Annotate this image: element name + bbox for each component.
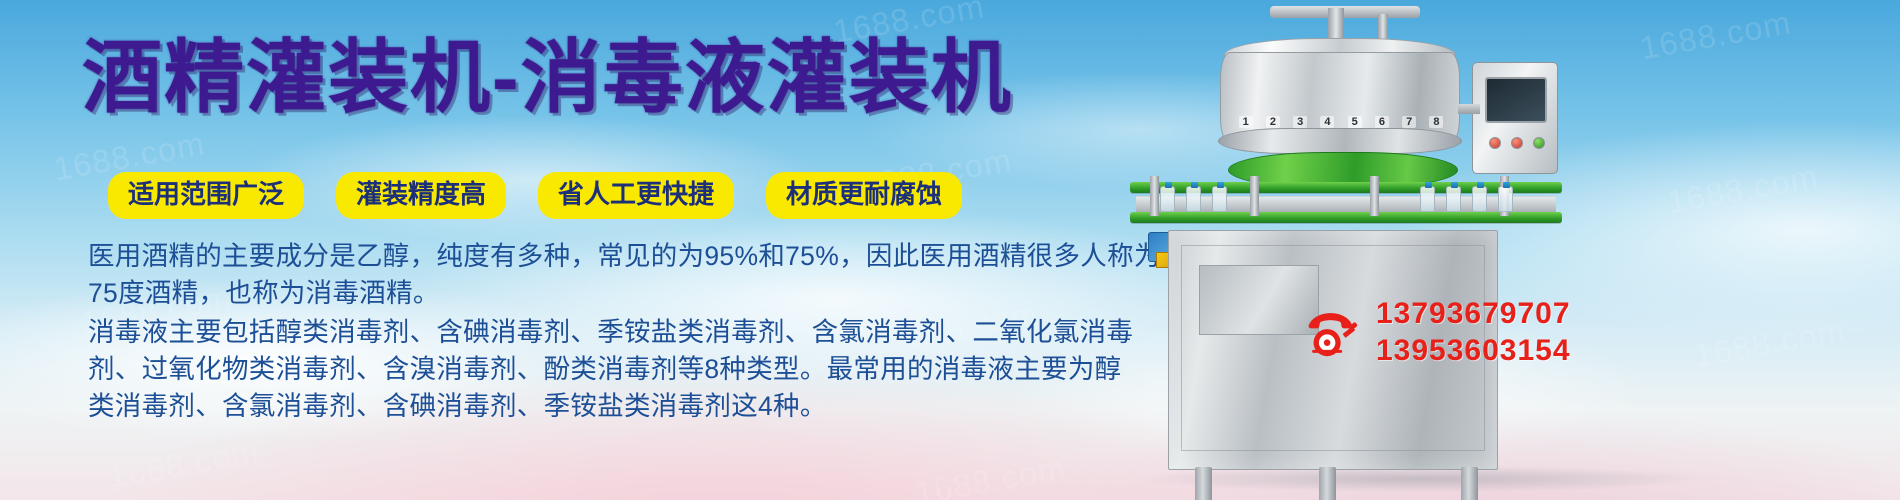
banner-title: 酒精灌装机-消毒液灌装机 <box>82 38 1013 118</box>
dial-number: 5 <box>1348 116 1362 128</box>
dial-number: 7 <box>1402 116 1416 128</box>
dial-number: 3 <box>1293 116 1307 128</box>
machine-leg <box>1319 467 1336 500</box>
feature-tag: 材质更耐腐蚀 <box>766 172 962 219</box>
feature-tag: 省人工更快捷 <box>538 172 734 219</box>
banner-content: 酒精灌装机-消毒液灌装机 适用范围广泛 灌装精度高 省人工更快捷 材质更耐腐蚀 … <box>0 0 1150 500</box>
bottle <box>1446 186 1461 212</box>
machine-control-panel <box>1472 62 1558 174</box>
paragraph-line: 类消毒剂、含氯消毒剂、含碘消毒剂、季铵盐类消毒剂这4种。 <box>88 388 1098 425</box>
bottle <box>1160 186 1175 212</box>
machine-leg <box>1461 467 1478 500</box>
dial-number: 1 <box>1239 116 1253 128</box>
bottle <box>1420 186 1435 212</box>
description-text: 医用酒精的主要成分是乙醇，纯度有多种，常见的为95%和75%，因此医用酒精很多人… <box>88 238 1098 427</box>
paragraph-line: 消毒液主要包括醇类消毒剂、含碘消毒剂、季铵盐类消毒剂、含氯消毒剂、二氧化氯消毒 <box>88 314 1098 351</box>
dial-number: 4 <box>1320 116 1334 128</box>
conveyor-guide-rail <box>1130 212 1562 223</box>
bottle <box>1186 186 1201 212</box>
phone-number-list: 13793679707 13953603154 <box>1376 296 1571 369</box>
contact-phone-block[interactable]: 13793679707 13953603154 <box>1300 296 1571 369</box>
feature-tag: 适用范围广泛 <box>108 172 304 219</box>
paragraph: 消毒液主要包括醇类消毒剂、含碘消毒剂、季铵盐类消毒剂、含氯消毒剂、二氧化氯消毒 … <box>88 314 1098 425</box>
machine-crossbar <box>1270 6 1420 18</box>
machine-leg <box>1195 467 1212 500</box>
promo-banner: 1688.com 1688.com 1688.com 1688.com 1688… <box>0 0 1900 500</box>
paragraph-line: 剂、过氧化物类消毒剂、含溴消毒剂、酚类消毒剂等8种类型。最常用的消毒液主要为醇 <box>88 351 1098 388</box>
dial-number: 6 <box>1375 116 1389 128</box>
conveyor-post <box>1250 176 1259 216</box>
conveyor-post <box>1150 176 1159 216</box>
machine-control-arm <box>1458 104 1480 114</box>
phone-number[interactable]: 13793679707 <box>1376 296 1571 331</box>
dial-number: 2 <box>1266 116 1280 128</box>
bottle <box>1212 186 1227 212</box>
conveyor-post <box>1370 176 1379 216</box>
feature-tag: 灌装精度高 <box>336 172 506 219</box>
control-panel-button <box>1533 137 1545 149</box>
control-panel-button <box>1489 137 1501 149</box>
bottle <box>1498 186 1513 212</box>
machine-turret-ring <box>1218 128 1462 154</box>
telephone-icon <box>1300 301 1362 363</box>
dial-number: 8 <box>1429 116 1443 128</box>
feature-tag-list: 适用范围广泛 灌装精度高 省人工更快捷 材质更耐腐蚀 <box>108 172 962 219</box>
paragraph-line: 医用酒精的主要成分是乙醇，纯度有多种，常见的为95%和75%，因此医用酒精很多人… <box>88 238 1098 275</box>
paragraph-line: 75度酒精，也称为消毒酒精。 <box>88 275 1098 312</box>
bottle <box>1472 186 1487 212</box>
product-photo: 1 2 3 4 5 6 7 8 <box>1120 0 1900 500</box>
control-panel-button <box>1511 137 1523 149</box>
control-panel-screen <box>1485 77 1547 123</box>
phone-number[interactable]: 13953603154 <box>1376 333 1571 368</box>
paragraph: 医用酒精的主要成分是乙醇，纯度有多种，常见的为95%和75%，因此医用酒精很多人… <box>88 238 1098 312</box>
